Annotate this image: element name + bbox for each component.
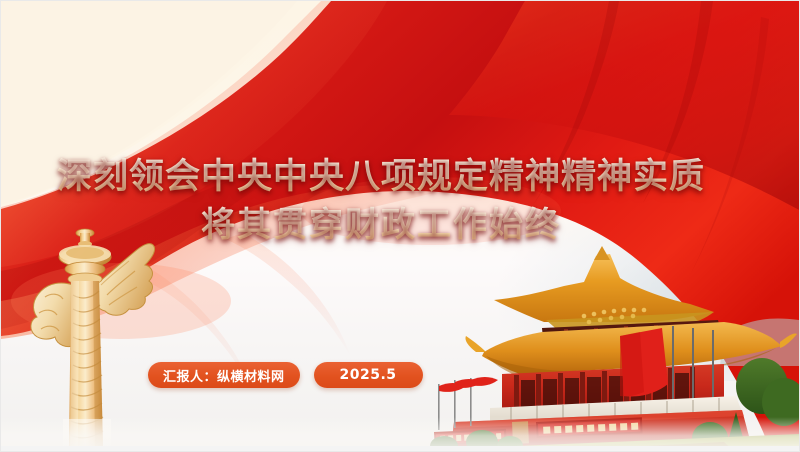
eave-corner-left xyxy=(465,336,486,352)
huabiao-graphic xyxy=(29,223,159,452)
facade-red-banner-shade xyxy=(620,332,644,396)
roof-ridge-ornament xyxy=(594,246,610,260)
huabiao-cap xyxy=(76,229,94,247)
info-badges: 汇报人：纵横材料网 2025.5 xyxy=(148,362,423,388)
presenter-badge[interactable]: 汇报人：纵横材料网 xyxy=(148,362,300,388)
presentation-slide: 深刻领会中央中央八项规定精神精神实质 将其贯穿财政工作始终 xyxy=(0,0,800,452)
bottom-edge-strip xyxy=(1,446,800,451)
silk-fold-center xyxy=(225,233,351,357)
tiananmen-building xyxy=(424,216,799,451)
date-badge[interactable]: 2025.5 xyxy=(314,362,423,388)
huabiao-column xyxy=(29,223,159,452)
tiananmen-graphic xyxy=(424,216,799,451)
